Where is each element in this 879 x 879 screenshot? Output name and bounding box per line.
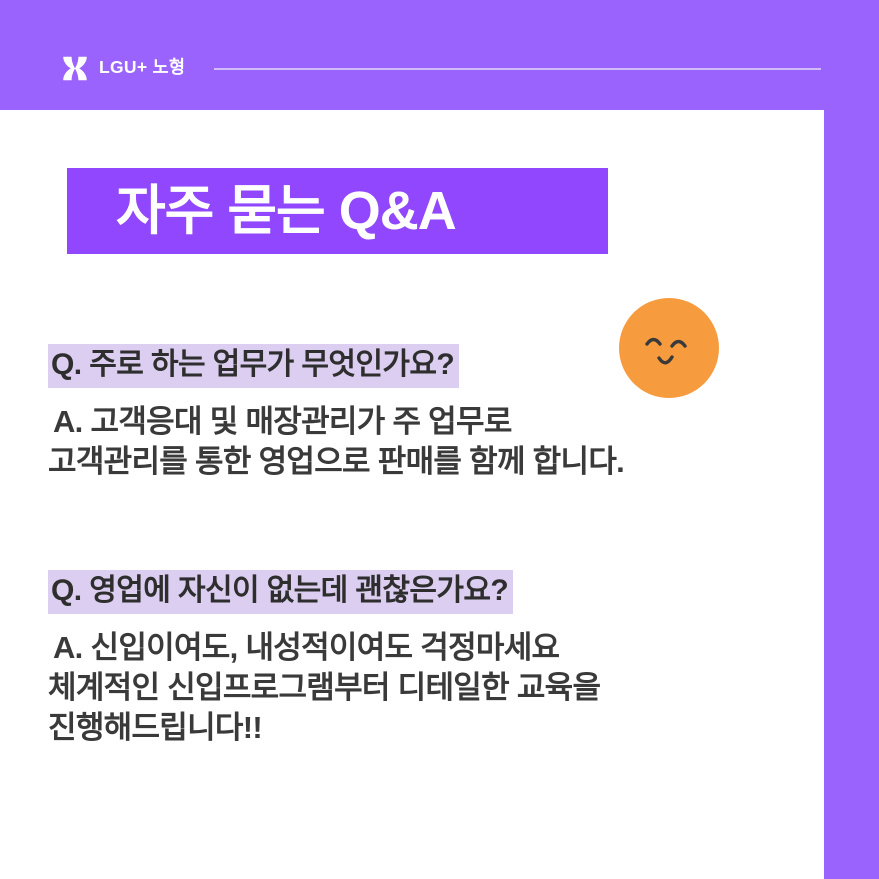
faq-question-row: Q. 주로 하는 업무가 무엇인가요? — [48, 344, 624, 388]
header-divider — [214, 68, 821, 70]
lguplus-x-logo-icon — [62, 56, 88, 81]
faq-question-row: Q. 영업에 자신이 없는데 괜찮은가요? — [48, 570, 600, 614]
faq-question: Q. 주로 하는 업무가 무엇인가요? — [48, 344, 459, 388]
faq-answer-line: 고객관리를 통한 영업으로 판매를 함께 합니다. — [48, 442, 624, 482]
faq-answer-line: 체계적인 신입프로그램부터 디테일한 교육을 — [48, 668, 600, 708]
page-title: 자주 묻는 Q&A — [116, 184, 456, 238]
faq-item: Q. 주로 하는 업무가 무엇인가요? A. 고객응대 및 매장관리가 주 업무… — [48, 344, 624, 482]
faq-answer-line: A. 고객응대 및 매장관리가 주 업무로 — [48, 402, 624, 442]
brand-lockup: LGU+ 노형 — [62, 53, 185, 83]
faq-answer: A. 고객응대 및 매장관리가 주 업무로 고객관리를 통한 영업으로 판매를 … — [48, 402, 624, 483]
faq-answer-line: A. 신입이여도, 내성적이여도 걱정마세요 — [48, 628, 600, 668]
brand-name: LGU+ 노형 — [99, 59, 185, 77]
title-banner: 자주 묻는 Q&A — [67, 168, 608, 254]
faq-item: Q. 영업에 자신이 없는데 괜찮은가요? A. 신입이여도, 내성적이여도 걱… — [48, 570, 600, 749]
faq-card: LGU+ 노형 자주 묻는 Q&A Q. 주로 하는 업무가 무엇인가요? A.… — [0, 0, 879, 879]
faq-answer: A. 신입이여도, 내성적이여도 걱정마세요 체계적인 신입프로그램부터 디테일… — [48, 628, 600, 749]
smiling-face-icon — [619, 298, 719, 398]
faq-question: Q. 영업에 자신이 없는데 괜찮은가요? — [48, 570, 513, 614]
faq-answer-line: 진행해드립니다!! — [48, 708, 600, 748]
header-bar: LGU+ 노형 — [0, 0, 879, 110]
